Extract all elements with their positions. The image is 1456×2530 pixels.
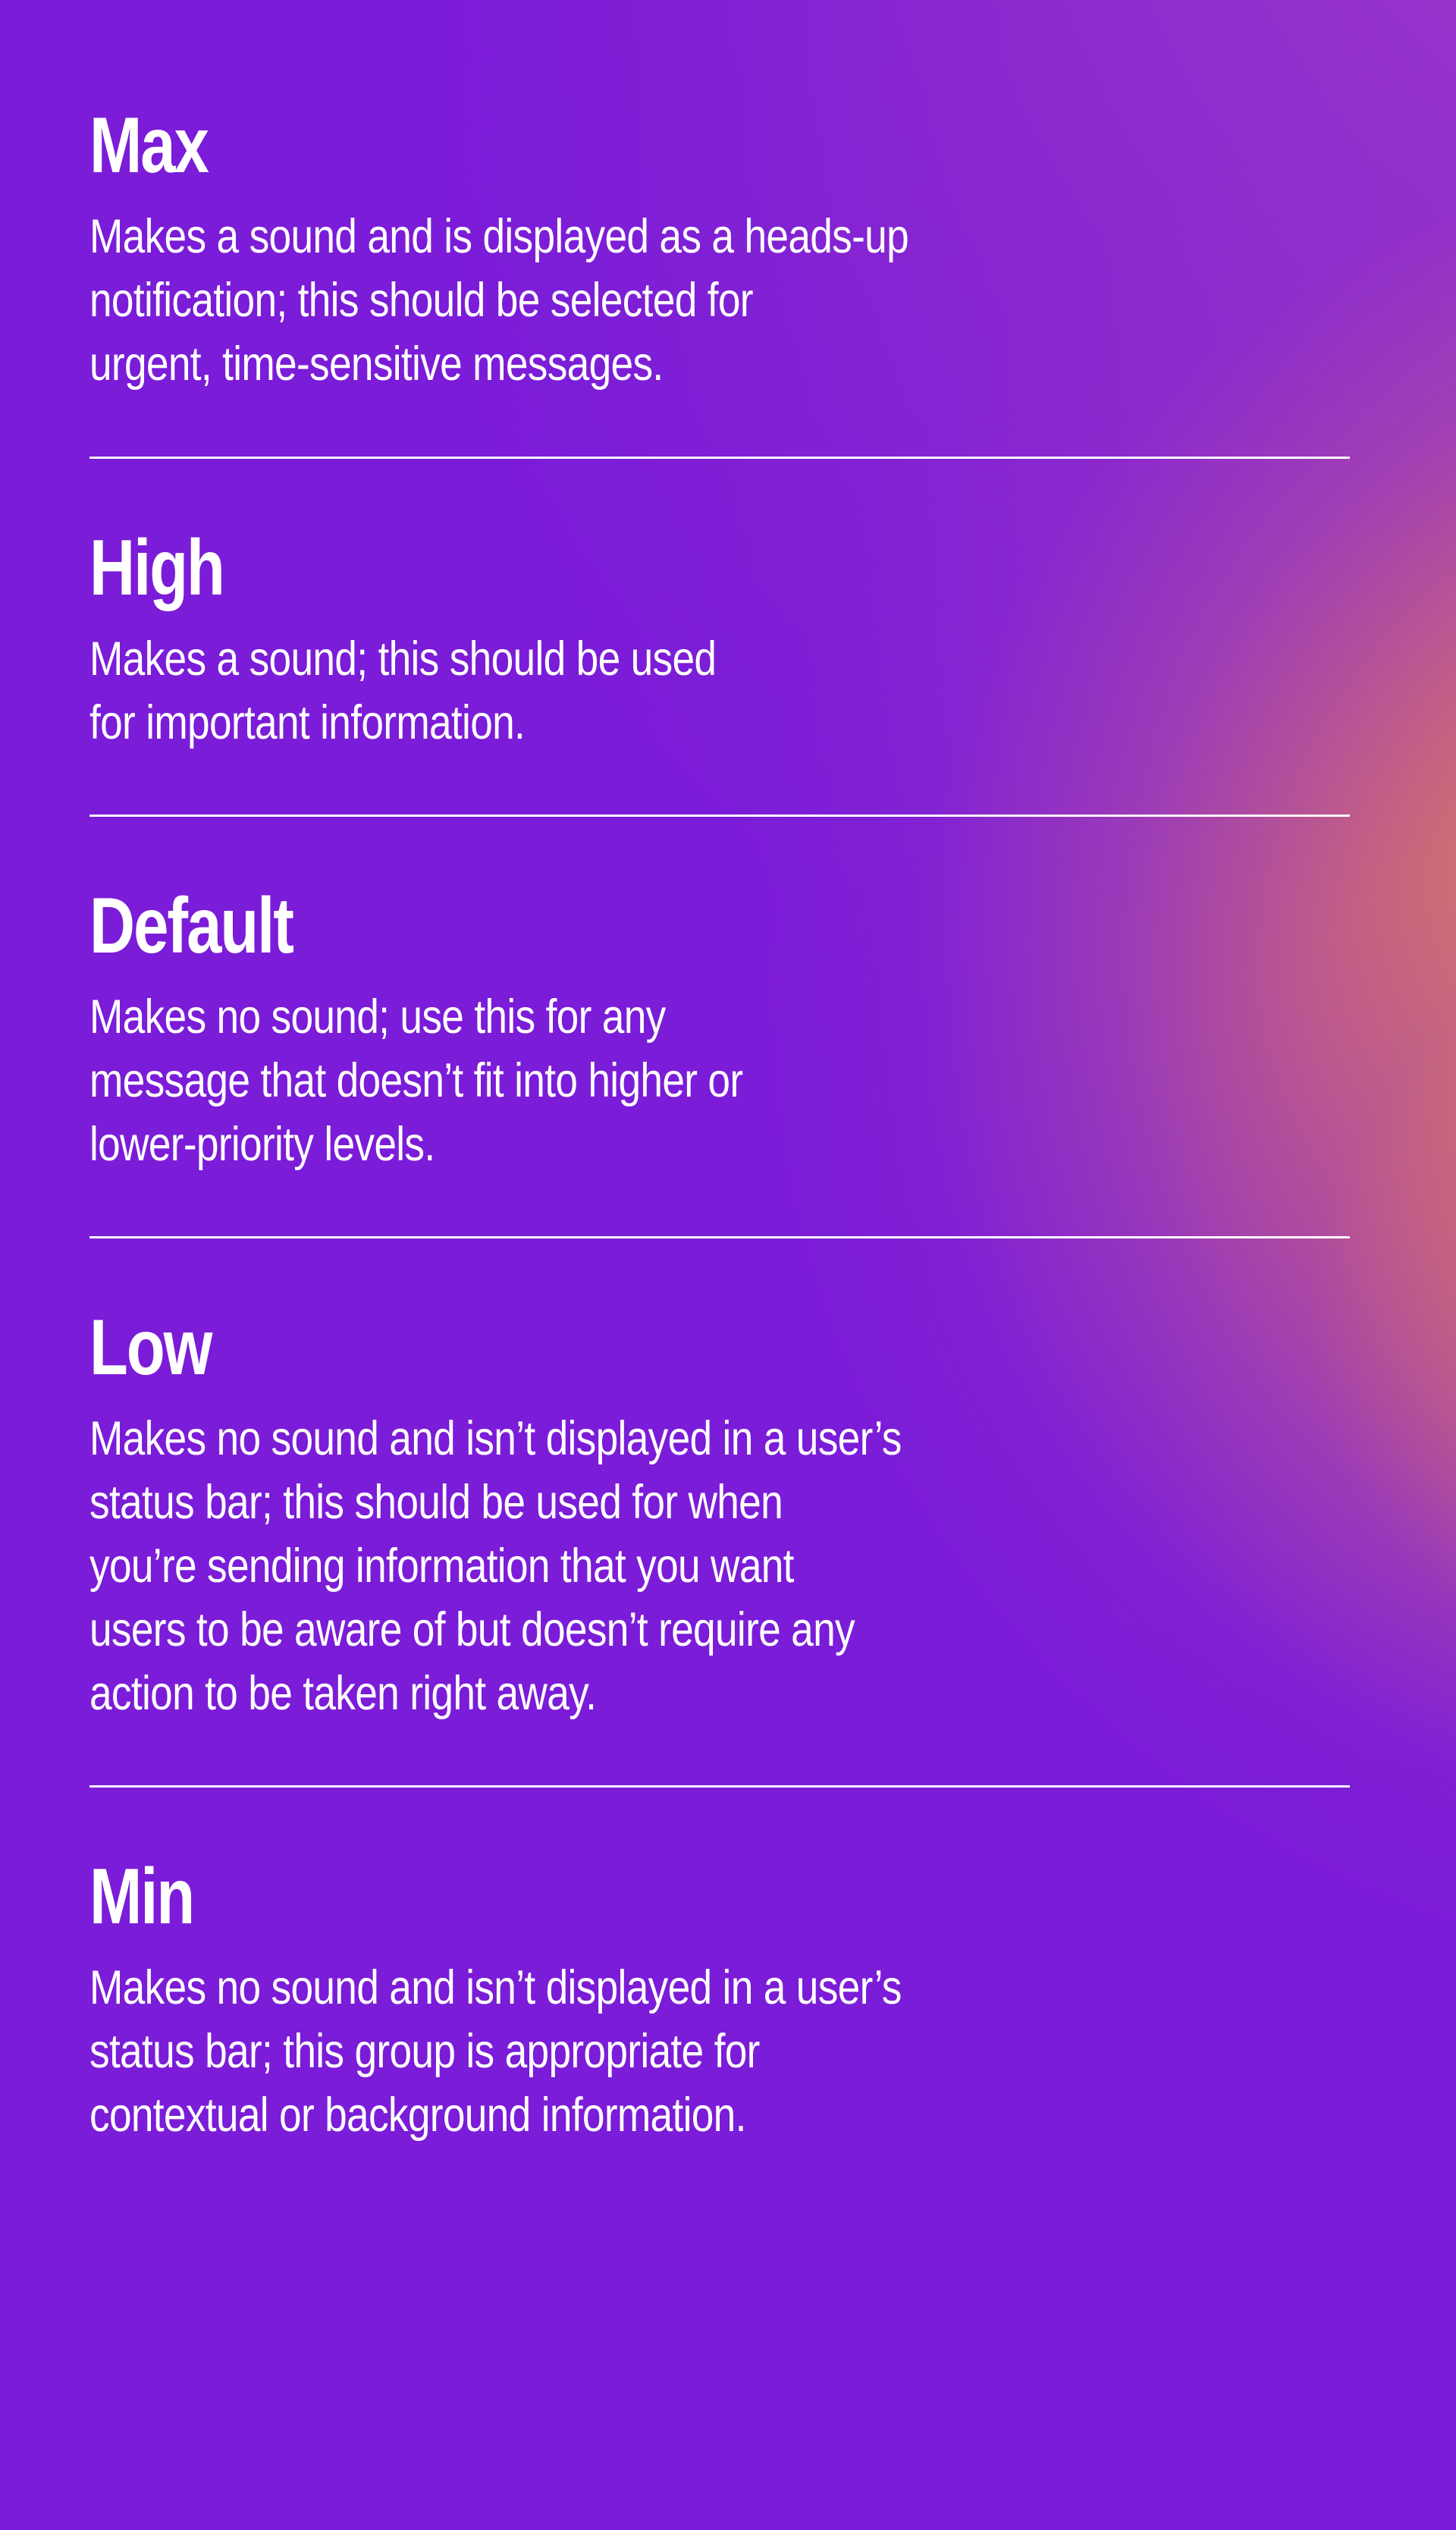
section-body-default: Makes no sound; use this for any message… — [89, 985, 1366, 1176]
section-min: Min Makes no sound and isn’t displayed i… — [89, 1788, 1367, 2147]
importance-levels-list: Max Makes a sound and is displayed as a … — [0, 0, 1456, 2530]
section-title-min: Min — [89, 1857, 1111, 1936]
section-title-max: Max — [89, 106, 1111, 185]
section-body-low: Makes no sound and isn’t displayed in a … — [89, 1407, 1366, 1725]
section-title-high: High — [89, 529, 1111, 607]
section-title-low: Low — [89, 1308, 1111, 1387]
section-body-max: Makes a sound and is displayed as a head… — [89, 205, 1366, 396]
section-body-min: Makes no sound and isn’t displayed in a … — [89, 1956, 1366, 2147]
section-title-default: Default — [89, 887, 1111, 965]
section-low: Low Makes no sound and isn’t displayed i… — [89, 1238, 1367, 1725]
section-body-high: Makes a sound; this should be used for i… — [89, 627, 1366, 755]
section-high: High Makes a sound; this should be used … — [89, 459, 1367, 755]
section-default: Default Makes no sound; use this for any… — [89, 817, 1367, 1176]
section-max: Max Makes a sound and is displayed as a … — [89, 0, 1367, 396]
